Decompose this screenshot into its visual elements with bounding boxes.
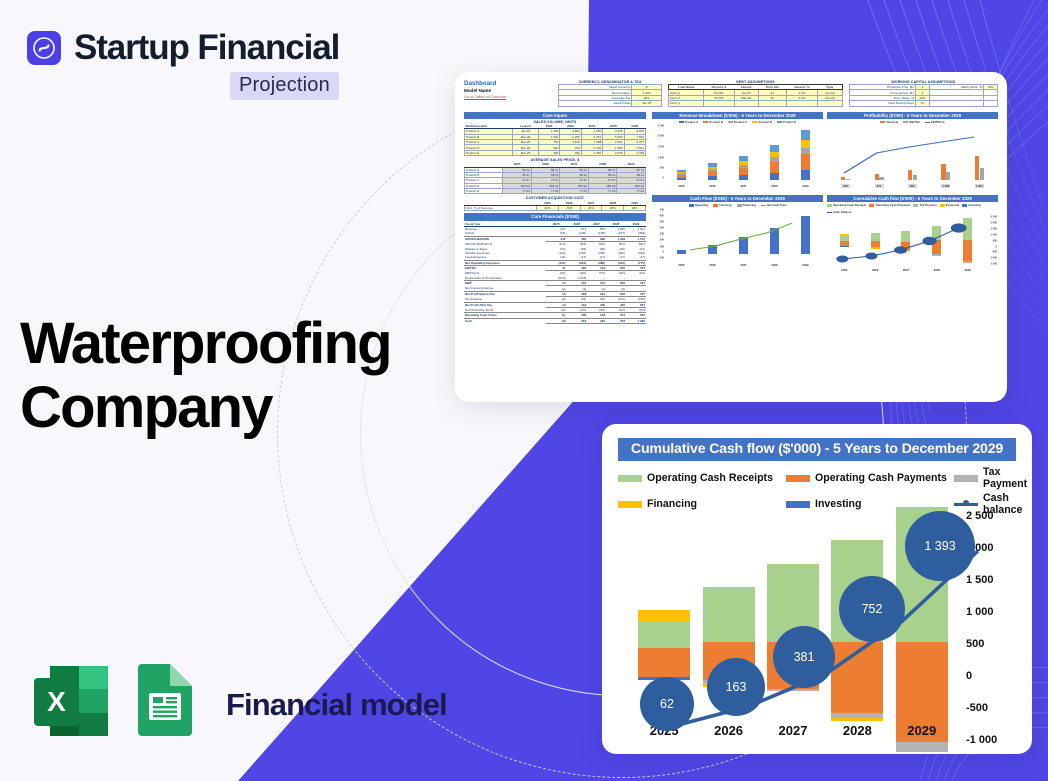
model-name-label: Model Name: [464, 88, 552, 93]
sales-volume-table: Market/product Launch 2025 2026 2027 202…: [464, 124, 646, 156]
average-price-table: 2025 2026 2027 2028 2029 Product A58.715…: [464, 162, 646, 194]
core-financials-table: Fiscal Year20252026202720282029Revenue29…: [464, 222, 646, 325]
legend-swatch: [618, 475, 642, 482]
cumulative-cash-flow-mini-chart: Cumulative Cash flow ($'000) - 5 Years t…: [827, 193, 998, 273]
debt-assumptions-block: DEBT ASSUMPTIONS Loan Name Amount, $ Lau…: [668, 80, 842, 107]
legend-swatch: [786, 501, 810, 508]
legend-item-financing: Financing: [618, 492, 786, 516]
legend-item-operating-cash-payments: Operating Cash Payments: [786, 466, 954, 490]
core-financials-band: Core Financials ($'000): [464, 213, 646, 220]
legend-swatch: [954, 503, 978, 506]
headline-line-2: Company: [20, 376, 391, 440]
fin-cell: 381: [587, 318, 606, 323]
currency-assumptions-block: CURRENCY, DENOMINATOR & TAX Model Curren…: [558, 80, 663, 107]
page-title: Waterproofing Company: [20, 312, 391, 440]
dashboard-title: Dashboard: [464, 80, 552, 87]
cac-table: 2025 2026 2027 2028 2029 CAC, % of Reven…: [464, 200, 646, 211]
core-inputs-band: Core Inputs: [464, 112, 646, 119]
legend-item-tax-payment: Tax Payment: [954, 466, 1027, 490]
dashboard-content: Dashboard Model Name Go to Table of Cont…: [455, 72, 1007, 402]
footer-file-formats: X Financial model: [32, 664, 447, 745]
data-label-2027: 381: [773, 626, 835, 688]
legend-swatch: [618, 501, 642, 508]
table-of-contents-link[interactable]: Go to Table of Contents: [464, 94, 552, 99]
fin-cell: 163: [567, 318, 588, 323]
link-loop-icon: [27, 31, 61, 65]
legend-swatch: [954, 475, 978, 482]
table-row: Cash621633817521 393: [464, 318, 646, 323]
microsoft-excel-icon: X: [32, 664, 110, 745]
data-label-2026: 163: [707, 658, 765, 716]
brand-header: Startup Financial Projection: [27, 28, 339, 100]
fin-cell: 62: [546, 318, 567, 323]
fin-cell: Cash: [464, 318, 546, 323]
working-capital-assumptions-block: WORKING CAPITAL ASSUMPTIONS Production t…: [849, 80, 998, 107]
google-sheets-icon: [132, 664, 198, 745]
cumulative-cash-flow-chart-card: Cumulative Cash flow ($'000) - 5 Years t…: [602, 424, 1032, 754]
chart-plot-area: 62 163 381 752 1 393 2 500 2 000 1 500 1…: [618, 514, 1016, 742]
chart-title: Cumulative Cash flow ($'000) - 5 Years t…: [618, 438, 1016, 461]
profitability-chart: Profitability ($'000) - 5 Years to Decem…: [827, 110, 998, 189]
svg-text:X: X: [47, 686, 66, 717]
brand-title: Startup Financial: [74, 28, 339, 68]
data-label-2029: 1 393: [905, 511, 975, 581]
footer-label: Financial model: [226, 687, 447, 723]
fin-cell: 1 393: [626, 318, 646, 323]
brand-subtitle-badge: Projection: [230, 72, 339, 100]
legend-swatch: [786, 475, 810, 482]
dashboard-screenshot-card: Dashboard Model Name Go to Table of Cont…: [455, 72, 1007, 402]
data-label-2025: 62: [640, 677, 694, 731]
cash-flow-chart: Cash Flow ($'000) - 5 Years to December …: [652, 193, 823, 273]
chart-legend: Operating Cash Receipts Operating Cash P…: [618, 466, 1016, 516]
data-label-2028: 752: [839, 576, 905, 642]
headline-line-1: Waterproofing: [20, 312, 391, 376]
fin-cell: 752: [606, 318, 626, 323]
legend-item-operating-cash-receipts: Operating Cash Receipts: [618, 466, 786, 490]
revenue-breakdown-chart: Revenue Breakdown ($'000) - 5 Years to D…: [652, 110, 823, 189]
